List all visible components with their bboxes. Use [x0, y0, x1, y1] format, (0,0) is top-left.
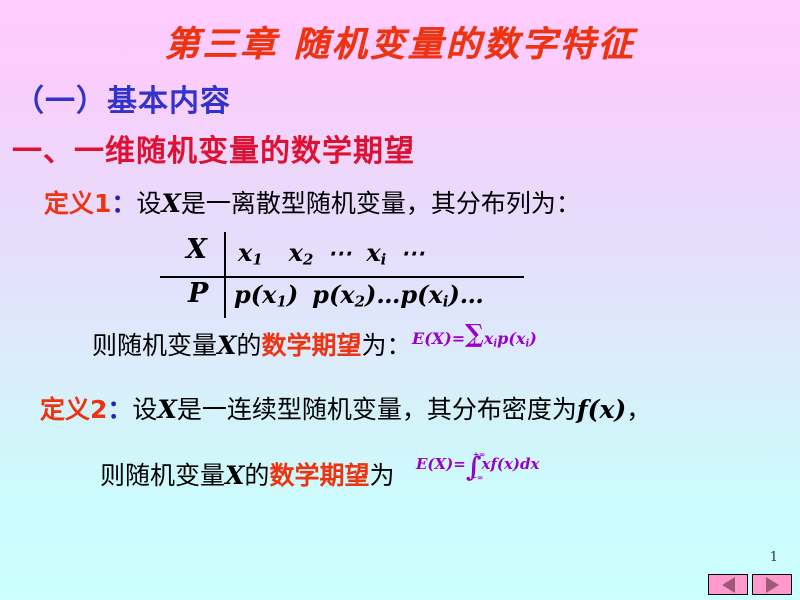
- formula-continuous-arg: (x): [497, 455, 520, 473]
- table-cell-p1-sub: 1: [276, 293, 286, 311]
- slide-canvas: 第三章 随机变量的数字特征 （一）基本内容 一、一维随机变量的数学期望 定义1：…: [0, 0, 800, 600]
- table-row-p-values: p(x1)p(x2)…p(xi)…: [234, 280, 484, 311]
- formula-continuous-equals: =: [453, 455, 466, 473]
- table-cell-x2: x: [289, 238, 303, 267]
- conclusion-1-variable: X: [217, 331, 236, 360]
- table-vertical-rule: [224, 232, 226, 318]
- summation-symbol: ∑i: [465, 322, 484, 346]
- conclusion-2-text-mid: 的: [244, 461, 269, 490]
- definition-2-colon: ：: [107, 395, 132, 424]
- conclusion-2-text-before: 则随机变量: [100, 461, 225, 490]
- distribution-table: X P x1x2⋯xi⋯ p(x1)p(x2)…p(xi)…: [160, 232, 540, 318]
- table-cell-x-dots-2: ⋯: [400, 238, 425, 267]
- definition-2-density-arg: (x): [588, 395, 627, 424]
- formula-discrete-p: p(x: [497, 329, 525, 348]
- definition-1-variable: X: [161, 189, 180, 218]
- conclusion-1-text-before: 则随机变量: [92, 331, 217, 360]
- page-title: 第三章 随机变量的数字特征: [0, 16, 800, 67]
- table-cell-x1: x: [238, 238, 252, 267]
- table-header-p: P: [188, 278, 208, 309]
- conclusion-2-variable: X: [225, 461, 244, 490]
- table-cell-x1-sub: 1: [252, 251, 262, 269]
- definition-2-line: 定义2：设X是一连续型随机变量，其分布密度为f(x)，: [40, 390, 651, 426]
- next-slide-button[interactable]: [752, 574, 792, 595]
- definition-2-trailing: ，: [626, 395, 651, 424]
- definition-1-label: 定义1: [44, 189, 111, 218]
- formula-continuous-differential: dx: [520, 455, 539, 473]
- table-cell-xi-sub: i: [381, 251, 387, 269]
- definition-1-line: 定义1：设X是一离散型随机变量，其分布列为：: [44, 184, 581, 220]
- definition-2-text-before: 设: [132, 395, 157, 424]
- formula-discrete-equals: =: [452, 329, 465, 348]
- definition-2-density: f: [577, 395, 588, 424]
- table-cell-x2-sub: 2: [303, 251, 313, 269]
- table-header-x: X: [186, 234, 207, 265]
- conclusion-2-text-after: 为: [369, 461, 394, 490]
- conclusion-1-line: 则随机变量X的数学期望为：: [92, 326, 411, 362]
- table-cell-pi: p(x: [400, 280, 442, 309]
- definition-2-label: 定义2: [40, 395, 107, 424]
- formula-discrete-x: x: [484, 329, 494, 348]
- table-cell-p2: p(x: [312, 280, 354, 309]
- table-cell-p2-sub: 2: [355, 293, 365, 311]
- definition-2-variable: X: [157, 395, 176, 424]
- triangle-right-icon: [766, 577, 779, 593]
- sub-heading: 一、一维随机变量的数学期望: [12, 126, 415, 170]
- navigation-bar: [708, 574, 792, 595]
- section-heading: （一）基本内容: [14, 76, 231, 120]
- table-row-x-values: x1x2⋯xi⋯: [238, 238, 425, 269]
- table-cell-p1-close: ): [287, 280, 298, 309]
- conclusion-2-emphasis: 数学期望: [269, 461, 369, 490]
- integral-upper-limit: +∞: [473, 451, 486, 459]
- formula-discrete-p-close: ): [529, 329, 537, 348]
- table-cell-x-dots-1: ⋯: [327, 238, 352, 267]
- table-horizontal-rule: [160, 276, 524, 278]
- formula-discrete-lhs: E(X): [412, 329, 452, 348]
- conclusion-1-text-mid: 的: [236, 331, 261, 360]
- page-number: 1: [770, 550, 778, 565]
- formula-continuous-expectation: E(X)=∫+∞−∞xf(x)dx: [416, 455, 539, 477]
- triangle-left-icon: [722, 577, 735, 593]
- conclusion-1-text-after: 为：: [361, 331, 411, 360]
- table-cell-p1: p(x: [234, 280, 276, 309]
- conclusion-2-line: 则随机变量X的数学期望为: [100, 456, 394, 492]
- previous-slide-button[interactable]: [708, 574, 748, 595]
- definition-2-text-after: 是一连续型随机变量，其分布密度为: [177, 395, 577, 424]
- table-cell-xi: x: [366, 238, 380, 267]
- table-cell-p2-close: )…: [365, 280, 400, 309]
- definition-1-text-before: 设: [136, 189, 161, 218]
- definition-1-text-after: 是一离散型随机变量，其分布列为：: [181, 189, 581, 218]
- formula-discrete-expectation: E(X)=∑ixip(xi): [412, 322, 537, 349]
- integral-lower-limit: −∞: [471, 474, 484, 482]
- conclusion-1-emphasis: 数学期望: [261, 331, 361, 360]
- table-cell-pi-close: )…: [448, 280, 483, 309]
- definition-1-colon: ：: [111, 189, 136, 218]
- formula-continuous-lhs: E(X): [416, 455, 453, 473]
- integral-symbol: ∫+∞−∞: [466, 456, 482, 477]
